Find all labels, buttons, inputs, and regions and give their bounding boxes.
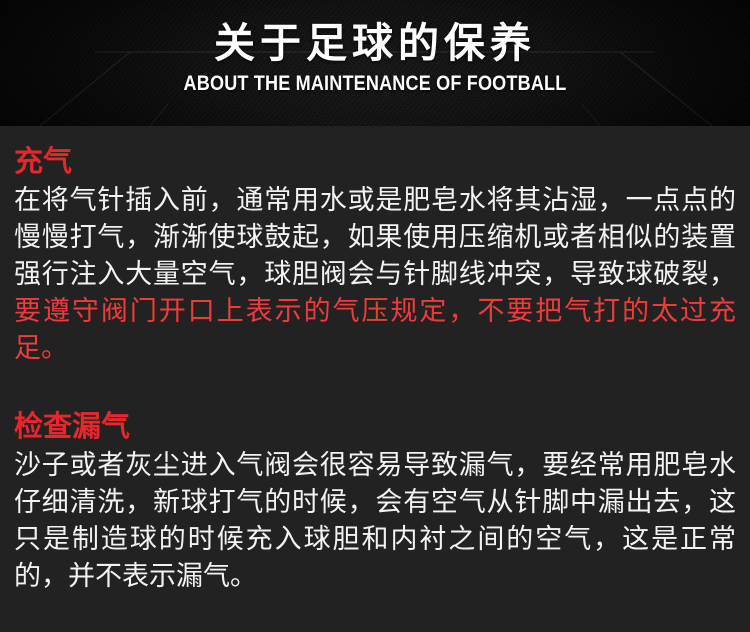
hero-subtitle: ABOUT THE MAINTENANCE OF FOOTBALL [53,72,698,96]
paragraph-warning-text: 要遵守阀门开口上表示的气压规定，不要把气打的太过充足。 [14,296,736,363]
section-heading: 检查漏气 [14,391,736,447]
paragraph-normal-text: 沙子或者灰尘进入气阀会很容易导致漏气，要经常用肥皂水仔细清洗，新球打气的时候，会… [14,450,736,591]
section-leak-check: 检查漏气 沙子或者灰尘进入气阀会很容易导致漏气，要经常用肥皂水仔细清洗，新球打气… [14,391,736,595]
section-heading: 充气 [14,126,736,182]
section-inflation: 充气 在将气针插入前，通常用水或是肥皂水将其沾湿，一点点的慢慢打气，渐渐使球鼓起… [14,126,736,367]
section-paragraph: 在将气针插入前，通常用水或是肥皂水将其沾湿，一点点的慢慢打气，渐渐使球鼓起，如果… [14,182,736,367]
paragraph-normal-text: 在将气针插入前，通常用水或是肥皂水将其沾湿，一点点的慢慢打气，渐渐使球鼓起，如果… [14,185,736,289]
hero-banner: 关于足球的保养 ABOUT THE MAINTENANCE OF FOOTBAL… [0,0,750,126]
hero-title: 关于足球的保养 [0,20,750,66]
product-detail-page: 关于足球的保养 ABOUT THE MAINTENANCE OF FOOTBAL… [0,0,750,632]
hero-text-block: 关于足球的保养 ABOUT THE MAINTENANCE OF FOOTBAL… [0,0,750,96]
section-paragraph: 沙子或者灰尘进入气阀会很容易导致漏气，要经常用肥皂水仔细清洗，新球打气的时候，会… [14,447,736,595]
content-area: 充气 在将气针插入前，通常用水或是肥皂水将其沾湿，一点点的慢慢打气，渐渐使球鼓起… [0,126,750,595]
